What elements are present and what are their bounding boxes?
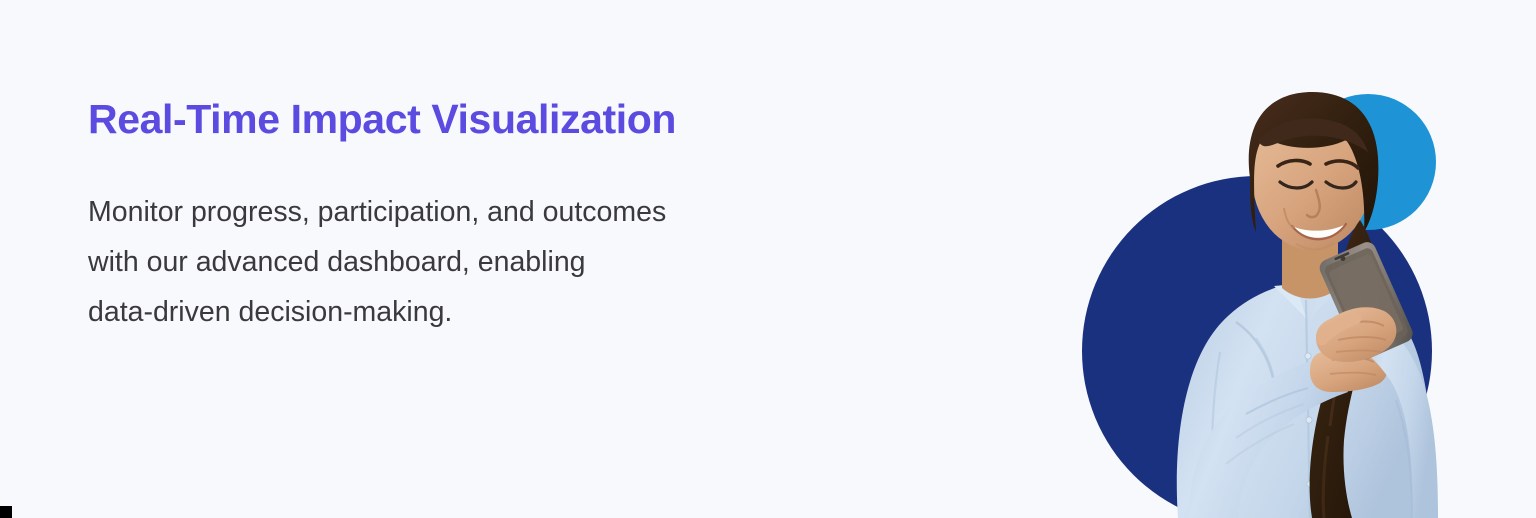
body-line-2: with our advanced dashboard, enabling	[88, 237, 888, 287]
page-title: Real-Time Impact Visualization	[88, 96, 988, 143]
body-line-3: data-driven decision-making.	[88, 287, 888, 337]
corner-artifact	[0, 506, 12, 518]
hero-graphic	[1060, 0, 1460, 518]
body-description: Monitor progress, participation, and out…	[88, 143, 888, 337]
body-line-1: Monitor progress, participation, and out…	[88, 187, 888, 237]
woman-with-phone-photo	[1060, 0, 1460, 518]
feature-banner: Real-Time Impact Visualization Monitor p…	[0, 0, 1536, 518]
text-column: Real-Time Impact Visualization Monitor p…	[88, 96, 988, 337]
